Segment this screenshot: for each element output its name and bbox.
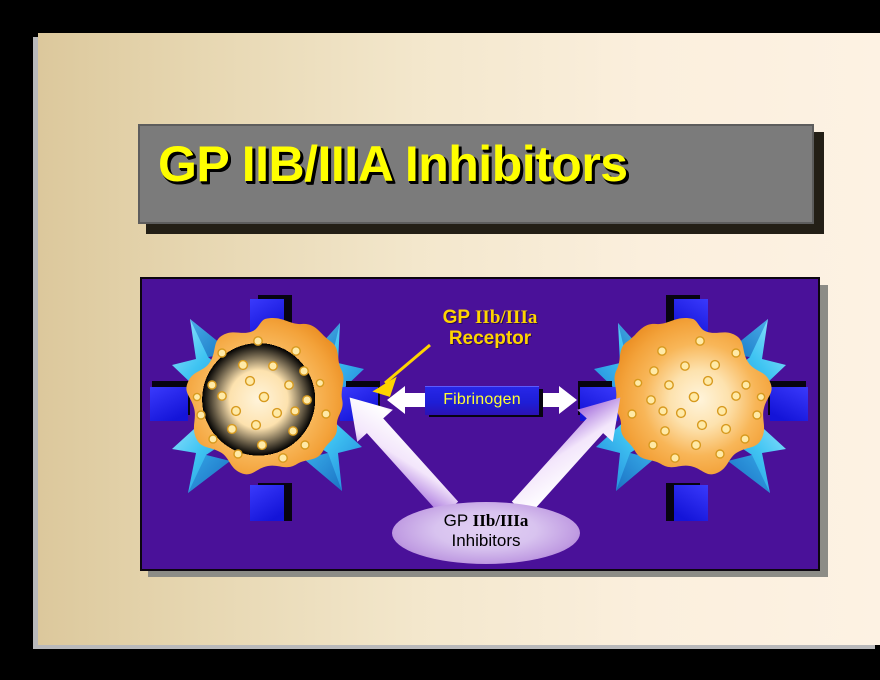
title-box: GP IIB/IIIA Inhibitors [138,124,814,224]
fibrinogen-arrow-right [539,386,577,414]
fibrinogen-box: Fibrinogen [425,386,539,415]
inhibitors-label-emphasis: IIb/IIIa [473,511,529,530]
inhibitors-callout: GP IIb/IIIa Inhibitors [392,502,580,564]
receptor-label-line2: Receptor [449,328,531,349]
receptor-label-emphasis: IIb/IIIa [475,307,537,328]
receptor-pointer-arrow [376,345,430,395]
fibrinogen-label: Fibrinogen [425,391,539,409]
receptor-label-line1: GP IIb/IIIa [443,307,538,328]
inhibitors-label-line1: GP IIb/IIIa [444,511,529,530]
diagram-panel: GP IIb/IIIa Receptor Fibrinogen GP IIb/I… [140,277,820,571]
presentation-slide: GP IIB/IIIA Inhibitors [38,33,880,645]
inhibitors-label: GP IIb/IIIa Inhibitors [392,511,580,550]
receptor-label: GP IIb/IIIa Receptor [408,308,572,349]
screenshot-stage: GP IIB/IIIA Inhibitors [0,0,880,680]
inhibitors-label-line2: Inhibitors [452,531,521,550]
page-title: GP IIB/IIIA Inhibitors [158,135,628,193]
